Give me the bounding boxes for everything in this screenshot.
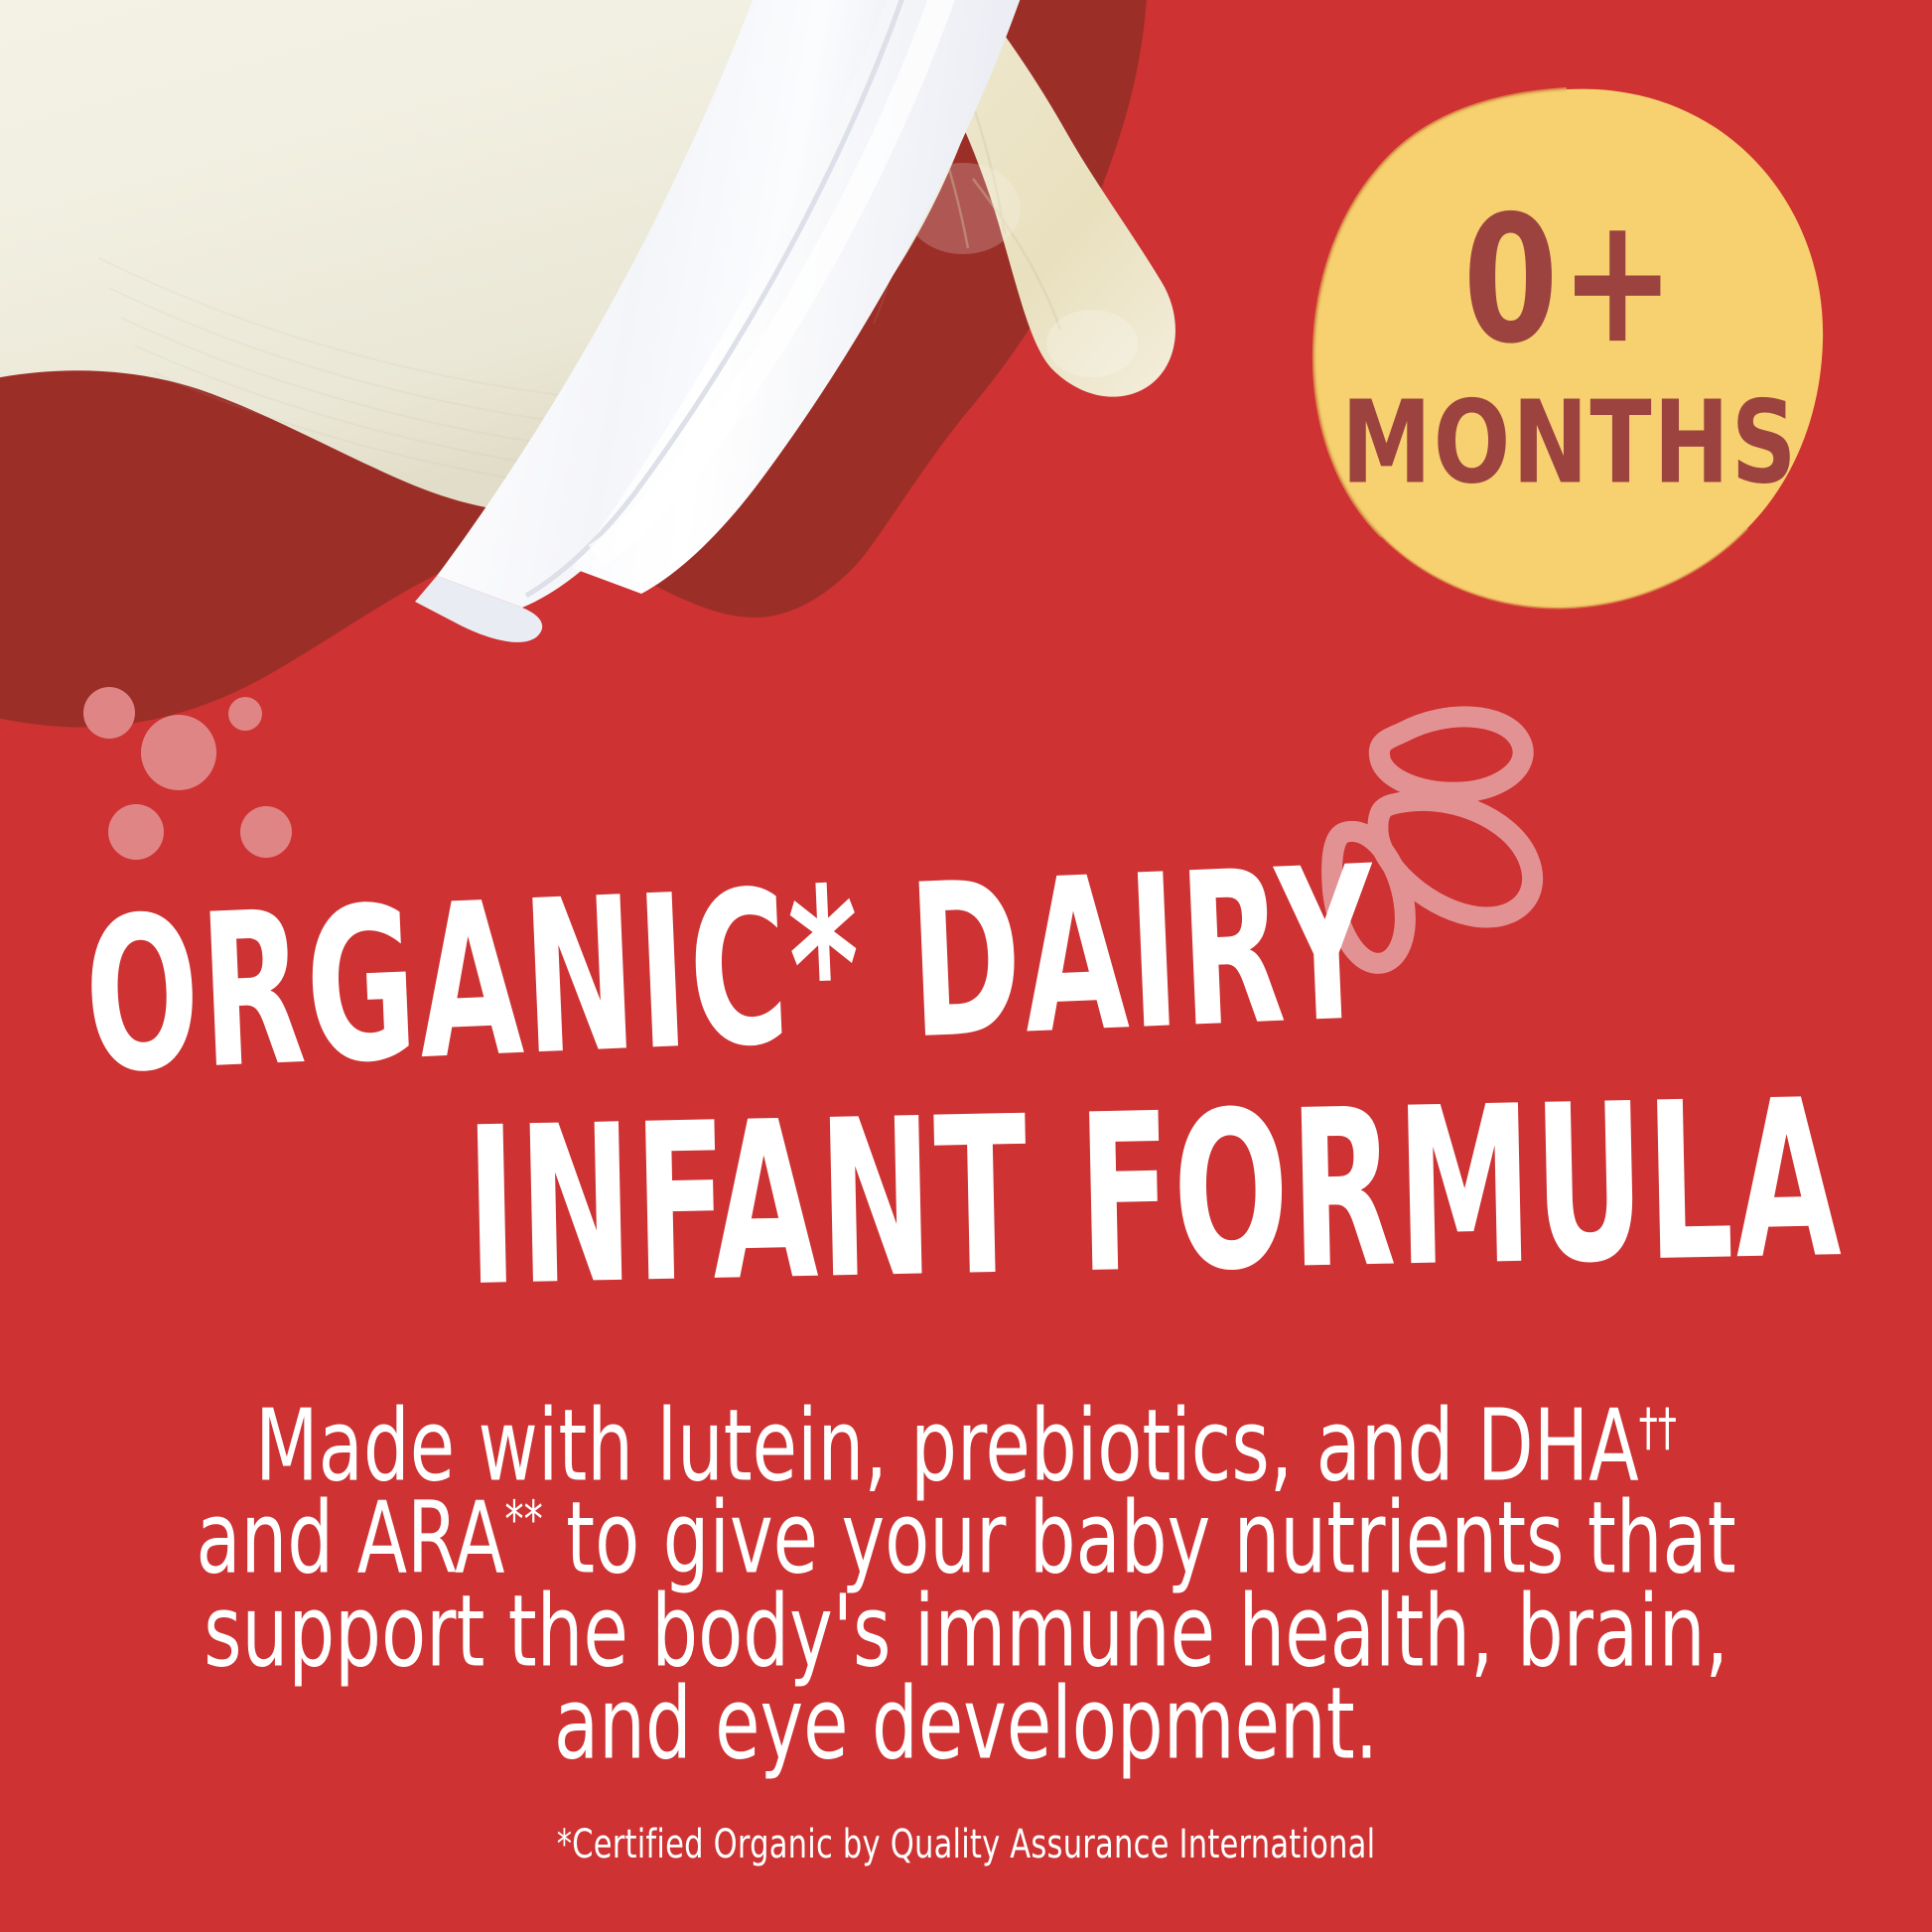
- age-badge-unit: MONTHS: [1341, 385, 1798, 499]
- product-banner: 0+ MONTHS ORGANIC* DAIRY INFANT FORMULA …: [0, 0, 1932, 1932]
- decor-dot: [228, 697, 262, 731]
- ara-footnote-marker: **: [504, 1491, 542, 1552]
- body-copy-line-4: and eye development.: [0, 1668, 1932, 1781]
- body-copy: Made with lutein, prebiotics, and DHA†† …: [0, 1390, 1932, 1761]
- footnote-text: *Certified Organic by Quality Assurance …: [557, 1821, 1376, 1867]
- decor-dot: [83, 687, 135, 739]
- age-badge: 0+ MONTHS: [1311, 85, 1829, 612]
- age-badge-value: 0+: [1348, 194, 1791, 369]
- age-badge-text: 0+ MONTHS: [1329, 207, 1810, 490]
- headline-line-2: INFANT FORMULA: [465, 1066, 1932, 1318]
- decor-dot: [240, 806, 292, 858]
- decor-dot: [108, 804, 164, 860]
- bottle-image: [0, 0, 1231, 774]
- dha-footnote-marker: ††: [1639, 1398, 1677, 1458]
- footnote: *Certified Organic by Quality Assurance …: [0, 1825, 1932, 1864]
- decor-dot: [141, 715, 216, 790]
- headline: ORGANIC* DAIRY INFANT FORMULA: [0, 923, 1932, 1285]
